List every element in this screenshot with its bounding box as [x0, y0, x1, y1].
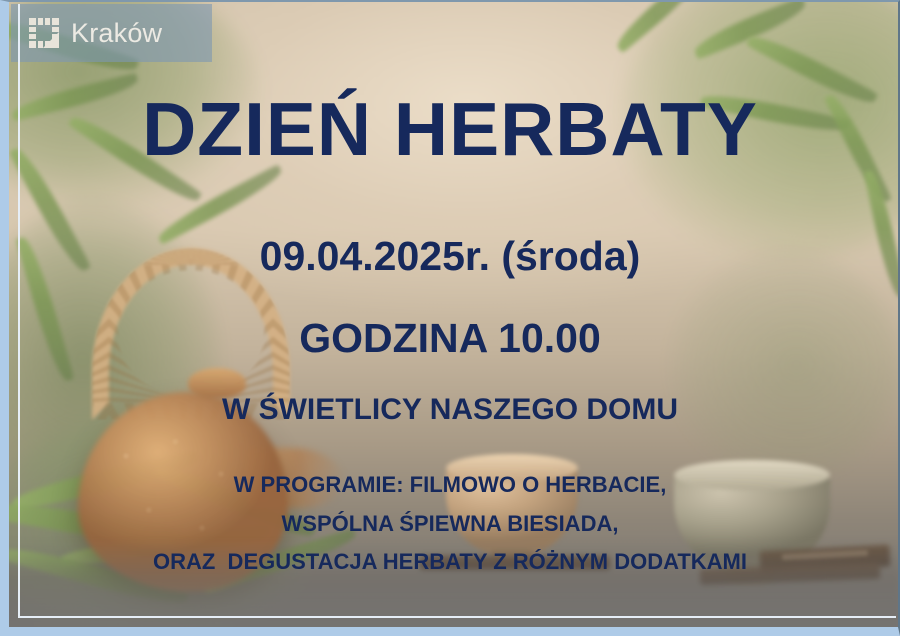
program-line: W PROGRAMIE: FILMOWO O HERBACIE, [0, 466, 900, 505]
poster-title: DZIEŃ HERBATY [0, 92, 900, 167]
poster-time: GODZINA 10.00 [0, 316, 900, 361]
poster-date: 09.04.2025r. (środa) [0, 234, 900, 279]
krakow-logo-badge: Kraków [11, 4, 212, 62]
poster-place: W ŚWIETLICY NASZEGO DOMU [0, 393, 900, 426]
program-line: WSPÓLNA ŚPIEWNA BIESIADA, [0, 505, 900, 544]
poster: Kraków DZIEŃ HERBATY 09.04.2025r. (środa… [0, 0, 900, 636]
krakow-city-crest-icon [29, 18, 59, 48]
krakow-logo-text: Kraków [71, 20, 162, 47]
poster-program: W PROGRAMIE: FILMOWO O HERBACIE, WSPÓLNA… [0, 466, 900, 582]
program-line: ORAZ DEGUSTACJA HERBATY Z RÓŻNYM DODATKA… [0, 543, 900, 582]
foliage-middle-right [670, 250, 900, 480]
